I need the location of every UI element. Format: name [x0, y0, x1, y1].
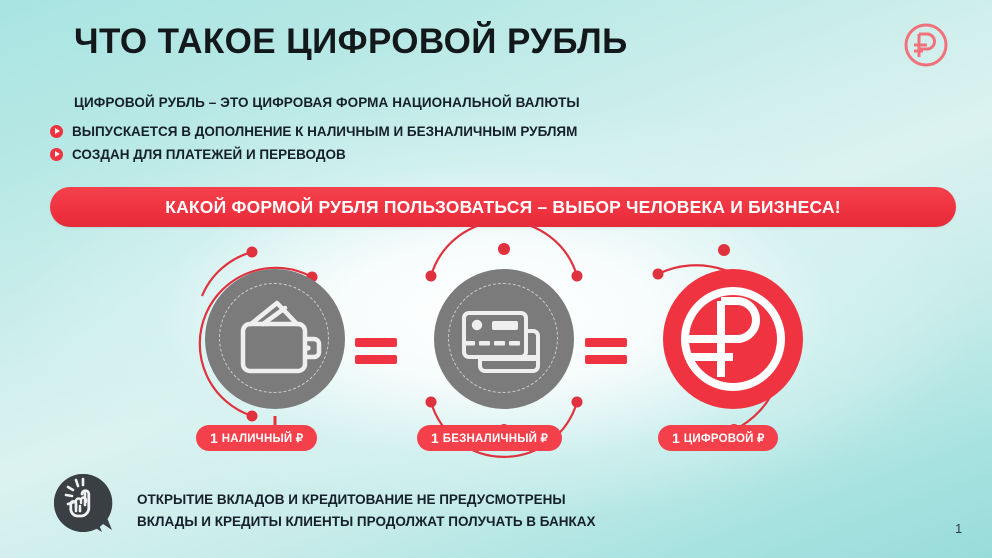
page-title: ЧТО ТАКОЕ ЦИФРОВОЙ РУБЛЬ	[74, 22, 628, 62]
label-digital: 1ЦИФРОВОЙ ₽	[658, 425, 778, 451]
label-cash: 1НАЛИЧНЫЙ ₽	[196, 425, 317, 451]
intro-bullet-2: СОЗДАН ДЛЯ ПЛАТЕЖЕЙ И ПЕРЕВОДОВ	[50, 146, 346, 162]
intro-lead: ЦИФРОВОЙ РУБЛЬ – ЭТО ЦИФРОВАЯ ФОРМА НАЦИ…	[74, 95, 580, 110]
label-connectors	[0, 238, 992, 448]
label-noncash: 1БЕЗНАЛИЧНЫЙ ₽	[417, 425, 562, 451]
bullet-arrow-icon	[50, 148, 63, 161]
intro-bullet-1: ВЫПУСКАЕТСЯ В ДОПОЛНЕНИЕ К НАЛИЧНЫМ И БЕ…	[50, 123, 577, 139]
digital-ruble-logo-icon	[903, 22, 949, 68]
highlight-banner-label: КАКОЙ ФОРМОЙ РУБЛЯ ПОЛЬЗОВАТЬСЯ – ВЫБОР …	[165, 197, 841, 218]
label-digital-text: ЦИФРОВОЙ ₽	[684, 431, 765, 445]
footer-note-line-1: ОТКРЫТИЕ ВКЛАДОВ И КРЕДИТОВАНИЕ НЕ ПРЕДУ…	[137, 489, 595, 511]
label-digital-amount: 1	[672, 430, 680, 446]
label-noncash-amount: 1	[431, 430, 439, 446]
intro-bullet-2-label: СОЗДАН ДЛЯ ПЛАТЕЖЕЙ И ПЕРЕВОДОВ	[72, 147, 346, 162]
label-cash-text: НАЛИЧНЫЙ ₽	[222, 431, 304, 445]
pointing-hand-speech-bubble-icon	[52, 472, 116, 534]
bullet-arrow-icon	[50, 125, 63, 138]
footer-note: ОТКРЫТИЕ ВКЛАДОВ И КРЕДИТОВАНИЕ НЕ ПРЕДУ…	[137, 489, 595, 533]
equation-stage	[0, 238, 992, 448]
label-cash-amount: 1	[210, 430, 218, 446]
label-noncash-text: БЕЗНАЛИЧНЫЙ ₽	[443, 431, 548, 445]
footer-note-line-2: ВКЛАДЫ И КРЕДИТЫ КЛИЕНТЫ ПРОДОЛЖАТ ПОЛУЧ…	[137, 511, 595, 533]
slide-root: ЧТО ТАКОЕ ЦИФРОВОЙ РУБЛЬ ЦИФРОВОЙ РУБЛЬ …	[0, 0, 992, 558]
page-number: 1	[955, 521, 962, 536]
intro-bullet-1-label: ВЫПУСКАЕТСЯ В ДОПОЛНЕНИЕ К НАЛИЧНЫМ И БЕ…	[72, 124, 577, 139]
